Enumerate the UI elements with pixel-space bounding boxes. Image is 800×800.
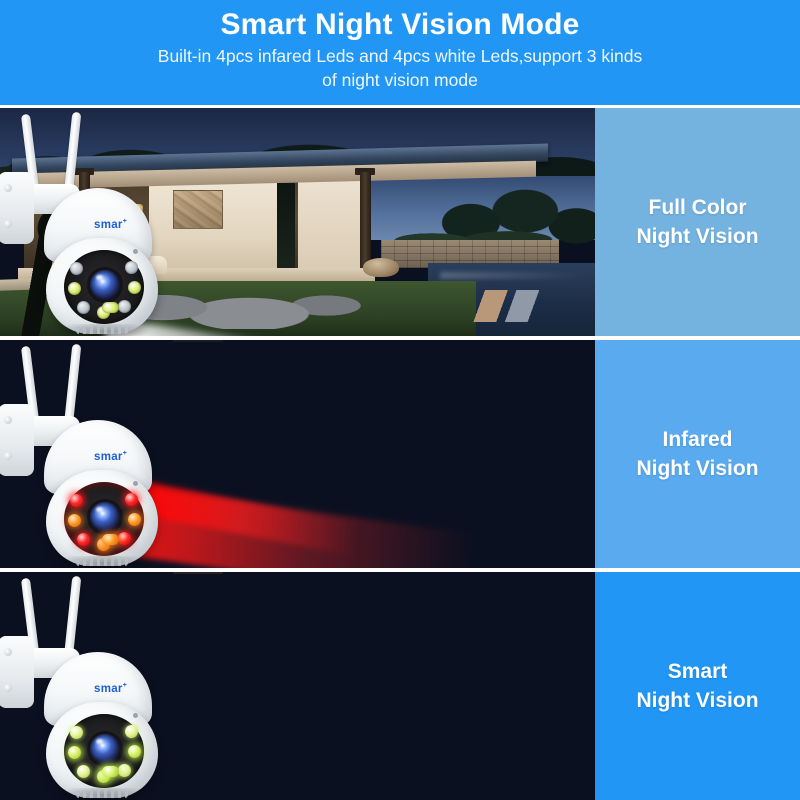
ir-led	[70, 726, 83, 739]
mount-screw	[4, 684, 12, 692]
ir-led	[125, 261, 138, 274]
mode-label-line-2: Night Vision	[636, 689, 758, 712]
speaker-vents	[76, 790, 128, 798]
mode-label: Infared Night Vision	[636, 425, 758, 483]
speaker-vents	[76, 326, 128, 334]
feature-row-infrared: smar+ Infared Night Vision	[0, 340, 800, 568]
header-banner: Smart Night Vision Mode Built-in 4pcs in…	[0, 0, 800, 105]
security-camera: smar+	[2, 574, 202, 800]
white-led	[128, 513, 141, 526]
ir-led	[125, 493, 138, 506]
ir-led	[118, 532, 131, 545]
brand-logo: smar+	[94, 450, 127, 463]
white-led	[68, 746, 81, 759]
pool-loungers	[428, 290, 559, 322]
mode-label-panel-infrared: Infared Night Vision	[595, 340, 800, 568]
mode-label-line-2: Night Vision	[636, 457, 758, 480]
mount-screw	[4, 452, 12, 460]
wall-mount-plate	[0, 636, 34, 708]
ir-led	[77, 301, 90, 314]
scene-infrared: smar+	[0, 340, 595, 568]
scene-smart: smar+	[0, 572, 595, 800]
mode-label-line-1: Full Color	[649, 196, 747, 219]
camera-lens	[90, 734, 120, 764]
white-led-strip	[102, 302, 119, 313]
mode-label-line-1: Infared	[662, 428, 732, 451]
mount-screw	[4, 220, 12, 228]
large-vase	[363, 258, 399, 276]
ir-led	[118, 764, 131, 777]
wall-panel-right	[298, 181, 369, 272]
mode-label: Full Color Night Vision	[636, 193, 758, 251]
wall-mount-plate	[0, 404, 34, 476]
white-led	[68, 282, 81, 295]
mount-screw	[4, 184, 12, 192]
white-led	[68, 514, 81, 527]
camera-lens	[90, 270, 120, 300]
brand-logo: smar+	[94, 682, 127, 695]
mode-label-panel-smart: Smart Night Vision	[595, 572, 800, 800]
page-title: Smart Night Vision Mode	[220, 6, 579, 44]
mode-label: Smart Night Vision	[636, 657, 758, 715]
mount-screw	[4, 416, 12, 424]
product-feature-poster: Smart Night Vision Mode Built-in 4pcs in…	[0, 0, 800, 800]
brand-logo: smar+	[94, 218, 127, 231]
doorway-gap	[277, 183, 295, 270]
pool-reflection	[440, 272, 583, 279]
mode-label-line-2: Night Vision	[636, 225, 758, 248]
camera-lens	[90, 502, 120, 532]
white-led	[128, 745, 141, 758]
ir-led	[77, 533, 90, 546]
ir-led	[70, 262, 83, 275]
light-sensor	[133, 249, 138, 254]
ir-led	[70, 494, 83, 507]
header-subtitle-line-1: Built-in 4pcs infared Leds and 4pcs whit…	[158, 44, 642, 68]
feature-row-smart: smar+ Smart Night Vision	[0, 572, 800, 800]
ir-led	[125, 725, 138, 738]
scene-full-color: smar+	[0, 108, 595, 336]
white-led-strip	[102, 534, 119, 545]
feature-row-full-color: smar+ Full Color Night Vision	[0, 108, 800, 336]
mount-screw	[4, 648, 12, 656]
mode-label-line-1: Smart	[668, 660, 728, 683]
security-camera: smar+	[2, 342, 202, 568]
speaker-vents	[76, 558, 128, 566]
security-camera: smar+	[2, 110, 202, 336]
mode-label-panel-full-color: Full Color Night Vision	[595, 108, 800, 336]
light-sensor	[133, 713, 138, 718]
wall-mount-plate	[0, 172, 34, 244]
header-subtitle-line-2: of night vision mode	[322, 68, 478, 92]
ir-led	[118, 300, 131, 313]
light-sensor	[133, 481, 138, 486]
ir-led	[77, 765, 90, 778]
white-led-strip	[102, 766, 119, 777]
white-led	[128, 281, 141, 294]
